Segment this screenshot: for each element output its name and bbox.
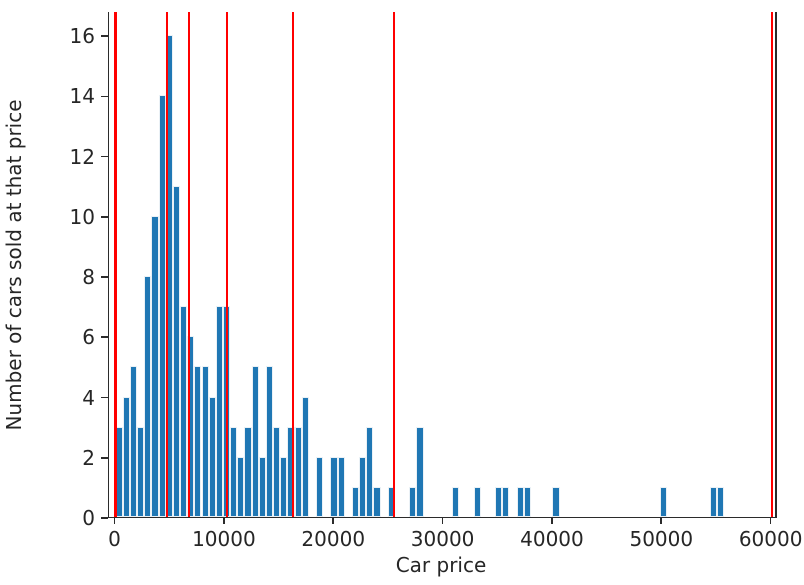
histogram-figure: 0100002000030000400005000060000 02468101…: [0, 0, 804, 585]
y-axis-tick-label: 8: [82, 265, 95, 289]
y-axis-tick: [101, 216, 108, 218]
histogram-bar: [230, 427, 237, 517]
x-axis-label: Car price: [396, 553, 487, 577]
x-axis-tick: [114, 518, 116, 524]
histogram-bar: [137, 427, 144, 517]
x-axis-tick: [770, 518, 772, 524]
histogram-bar: [524, 487, 531, 517]
cluster-boundary-line: [771, 12, 773, 517]
x-axis-tick: [551, 518, 553, 524]
histogram-bar: [180, 306, 187, 517]
histogram-bar: [710, 487, 717, 517]
y-axis-tick-label: 6: [82, 325, 95, 349]
y-axis-tick: [101, 35, 108, 37]
right-spine: [775, 12, 777, 518]
plot-area: [108, 12, 775, 518]
histogram-bar: [416, 427, 423, 517]
histogram-bar: [130, 366, 137, 517]
histogram-bar: [302, 397, 309, 517]
x-axis-tick-label: 50000: [629, 527, 693, 551]
histogram-bar: [244, 427, 251, 517]
y-axis-tick: [101, 457, 108, 459]
histogram-bar: [359, 457, 366, 517]
histogram-bar: [352, 487, 359, 517]
cluster-boundary-line: [393, 12, 395, 517]
histogram-bar: [266, 366, 273, 517]
y-axis-tick-label: 14: [70, 84, 95, 108]
histogram-bar: [517, 487, 524, 517]
histogram-bar: [252, 366, 259, 517]
histogram-bar: [216, 306, 223, 517]
histogram-bar: [474, 487, 481, 517]
cluster-boundary-line: [166, 12, 168, 517]
x-axis-tick: [332, 518, 334, 524]
y-axis-tick: [101, 276, 108, 278]
y-axis-tick-label: 12: [70, 145, 95, 169]
y-axis-tick: [101, 336, 108, 338]
histogram-bar: [259, 457, 266, 517]
y-axis-tick-label: 2: [82, 446, 95, 470]
histogram-bar: [194, 366, 201, 517]
y-axis-tick: [101, 517, 108, 519]
y-axis-tick: [101, 397, 108, 399]
histogram-bar: [552, 487, 559, 517]
x-axis-tick: [660, 518, 662, 524]
histogram-bar: [366, 427, 373, 517]
histogram-bar: [159, 95, 166, 517]
histogram-bar: [316, 457, 323, 517]
histogram-bar: [173, 186, 180, 517]
x-axis-tick-label: 0: [108, 527, 121, 551]
y-axis-tick: [101, 96, 108, 98]
histogram-bar: [209, 397, 216, 517]
histogram-bar: [409, 487, 416, 517]
x-axis-tick: [223, 518, 225, 524]
histogram-bar: [717, 487, 724, 517]
x-axis-tick-label: 20000: [301, 527, 365, 551]
histogram-bar: [330, 457, 337, 517]
x-axis-tick-label: 40000: [520, 527, 584, 551]
y-axis-label: Number of cars sold at that price: [2, 99, 26, 430]
cluster-boundary-line: [292, 12, 294, 517]
y-axis-tick: [101, 156, 108, 158]
histogram-bar: [295, 427, 302, 517]
x-axis-tick: [442, 518, 444, 524]
x-axis-tick-label: 60000: [739, 527, 803, 551]
cluster-boundary-line: [114, 12, 116, 517]
histogram-bar: [273, 427, 280, 517]
histogram-bar: [660, 487, 667, 517]
y-axis-tick-label: 16: [70, 24, 95, 48]
y-axis-tick-label: 4: [82, 386, 95, 410]
y-axis-tick-label: 10: [70, 205, 95, 229]
histogram-bar: [495, 487, 502, 517]
cluster-boundary-line: [226, 12, 228, 517]
histogram-bar: [123, 397, 130, 517]
x-axis-tick-label: 30000: [411, 527, 475, 551]
histogram-bar: [373, 487, 380, 517]
histogram-bar: [502, 487, 509, 517]
histogram-bar: [144, 276, 151, 517]
y-axis-tick-label: 0: [82, 506, 95, 530]
histogram-bar: [202, 366, 209, 517]
cluster-boundary-line: [188, 12, 190, 517]
histogram-bar: [452, 487, 459, 517]
histogram-bar: [338, 457, 345, 517]
histogram-bar: [237, 457, 244, 517]
x-axis-tick-label: 10000: [192, 527, 256, 551]
histogram-bar: [280, 457, 287, 517]
histogram-bar: [151, 216, 158, 517]
